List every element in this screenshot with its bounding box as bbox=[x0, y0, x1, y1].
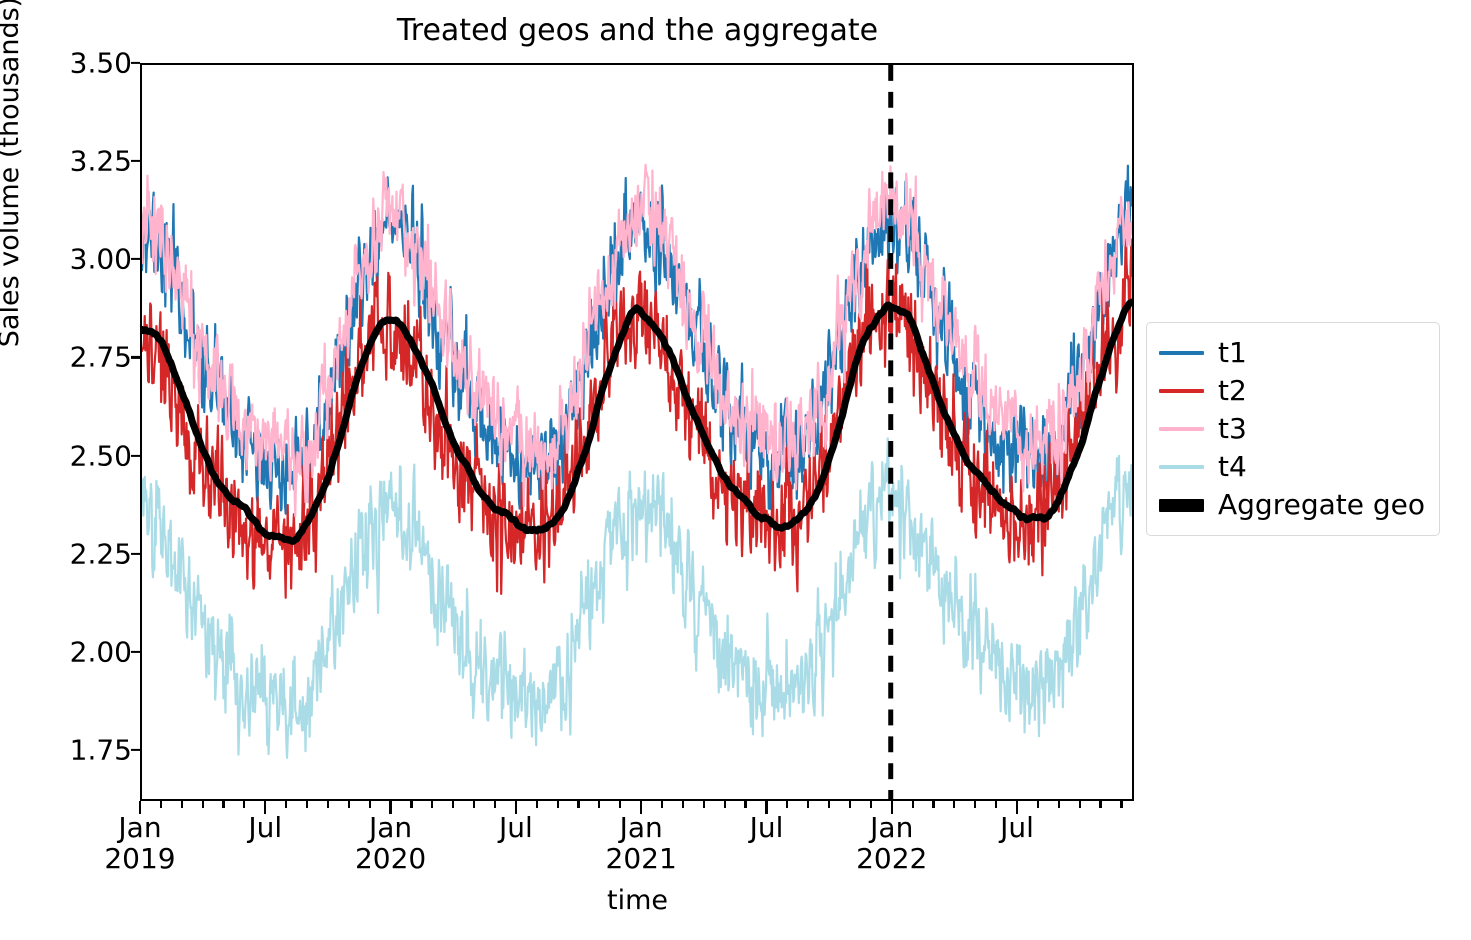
x-tick-month: Jul bbox=[499, 811, 533, 844]
plot-svg bbox=[142, 65, 1132, 799]
x-tick-year: 2020 bbox=[355, 843, 426, 874]
x-tick-label: Jul bbox=[248, 812, 282, 843]
x-tick-mark-minor bbox=[870, 801, 872, 808]
x-tick-mark-minor bbox=[222, 801, 224, 808]
figure: Treated geos and the aggregate Sales vol… bbox=[0, 0, 1471, 940]
legend-item-label: t3 bbox=[1218, 415, 1247, 443]
x-tick-mark-minor bbox=[598, 801, 600, 808]
y-tick-mark bbox=[131, 749, 140, 751]
x-tick-month: Jan bbox=[620, 811, 663, 844]
x-tick-mark-minor bbox=[536, 801, 538, 808]
x-tick-mark-minor bbox=[786, 801, 788, 808]
x-tick-mark-minor bbox=[995, 801, 997, 808]
x-tick-mark-minor bbox=[1037, 801, 1039, 808]
x-tick-mark-minor bbox=[431, 801, 433, 808]
x-tick-mark-minor bbox=[682, 801, 684, 808]
y-tick-mark bbox=[131, 651, 140, 653]
y-tick-label: 3.25 bbox=[70, 145, 132, 178]
x-tick-mark-minor bbox=[577, 801, 579, 808]
x-tick-label: Jan2019 bbox=[104, 812, 175, 875]
legend-color-swatch bbox=[1159, 499, 1204, 512]
legend: t1t2t3t4Aggregate geo bbox=[1146, 322, 1440, 536]
x-tick-mark-minor bbox=[181, 801, 183, 808]
x-tick-month: Jan bbox=[870, 811, 913, 844]
x-tick-mark-minor bbox=[285, 801, 287, 808]
x-tick-mark-minor bbox=[202, 801, 204, 808]
x-tick-label: Jan2021 bbox=[606, 812, 677, 875]
x-tick-mark-minor bbox=[807, 801, 809, 808]
y-tick-label: 2.50 bbox=[70, 439, 132, 472]
x-tick-mark-minor bbox=[160, 801, 162, 808]
x-tick-mark-minor bbox=[243, 801, 245, 808]
y-tick-mark bbox=[131, 160, 140, 162]
x-tick-mark-minor bbox=[1058, 801, 1060, 808]
legend-item-t2[interactable]: t2 bbox=[1159, 372, 1425, 410]
legend-item-label: t1 bbox=[1218, 339, 1247, 367]
x-axis-label: time bbox=[140, 885, 1135, 916]
x-tick-mark-minor bbox=[348, 801, 350, 808]
x-tick-mark-minor bbox=[410, 801, 412, 808]
legend-item-t1[interactable]: t1 bbox=[1159, 334, 1425, 372]
x-tick-mark-minor bbox=[369, 801, 371, 808]
legend-color-swatch bbox=[1159, 389, 1204, 393]
y-tick-label: 2.00 bbox=[70, 635, 132, 668]
y-tick-label: 2.25 bbox=[70, 537, 132, 570]
x-tick-label: Jul bbox=[1000, 812, 1034, 843]
x-tick-year: 2021 bbox=[606, 843, 677, 874]
x-tick-month: Jan bbox=[118, 811, 161, 844]
x-tick-mark-minor bbox=[953, 801, 955, 808]
y-axis-label: Sales volume (thousands) bbox=[0, 0, 25, 432]
x-tick-year: 2022 bbox=[856, 843, 927, 874]
x-tick-mark-minor bbox=[974, 801, 976, 808]
legend-item-label: t4 bbox=[1218, 453, 1247, 481]
x-tick-mark-minor bbox=[932, 801, 934, 808]
x-tick-label: Jan2022 bbox=[856, 812, 927, 875]
plot-area bbox=[140, 63, 1134, 801]
x-tick-year: 2019 bbox=[104, 843, 175, 874]
x-tick-mark-minor bbox=[744, 801, 746, 808]
legend-item-t3[interactable]: t3 bbox=[1159, 410, 1425, 448]
x-tick-month: Jul bbox=[248, 811, 282, 844]
legend-color-swatch bbox=[1159, 427, 1204, 431]
x-tick-mark-minor bbox=[494, 801, 496, 808]
x-tick-mark-minor bbox=[327, 801, 329, 808]
x-tick-mark-minor bbox=[452, 801, 454, 808]
x-tick-mark-minor bbox=[849, 801, 851, 808]
y-tick-mark bbox=[131, 454, 140, 456]
y-tick-mark bbox=[131, 553, 140, 555]
x-tick-mark-minor bbox=[1079, 801, 1081, 808]
x-tick-label: Jul bbox=[499, 812, 533, 843]
legend-item-aggregate-geo[interactable]: Aggregate geo bbox=[1159, 486, 1425, 524]
y-tick-label: 3.00 bbox=[70, 243, 132, 276]
x-tick-mark-minor bbox=[1120, 801, 1122, 808]
legend-item-label: t2 bbox=[1218, 377, 1247, 405]
x-tick-mark-minor bbox=[703, 801, 705, 808]
y-tick-label: 2.75 bbox=[70, 341, 132, 374]
y-tick-label: 1.75 bbox=[70, 733, 132, 766]
legend-item-t4[interactable]: t4 bbox=[1159, 448, 1425, 486]
x-tick-mark-minor bbox=[661, 801, 663, 808]
y-tick-mark bbox=[131, 258, 140, 260]
legend-color-swatch bbox=[1159, 351, 1204, 355]
x-tick-month: Jan bbox=[369, 811, 412, 844]
x-tick-mark-minor bbox=[306, 801, 308, 808]
y-tick-mark bbox=[131, 356, 140, 358]
x-tick-label: Jul bbox=[750, 812, 784, 843]
x-tick-month: Jul bbox=[1000, 811, 1034, 844]
legend-color-swatch bbox=[1159, 465, 1204, 469]
x-tick-mark-minor bbox=[828, 801, 830, 808]
x-tick-mark-minor bbox=[557, 801, 559, 808]
x-tick-mark-minor bbox=[473, 801, 475, 808]
x-tick-mark-minor bbox=[1099, 801, 1101, 808]
x-tick-label: Jan2020 bbox=[355, 812, 426, 875]
y-tick-label: 3.50 bbox=[70, 47, 132, 80]
legend-item-label: Aggregate geo bbox=[1218, 491, 1425, 519]
y-tick-mark bbox=[131, 62, 140, 64]
page-title: Treated geos and the aggregate bbox=[140, 14, 1135, 47]
x-tick-mark-minor bbox=[619, 801, 621, 808]
x-tick-mark-minor bbox=[912, 801, 914, 808]
x-tick-month: Jul bbox=[750, 811, 784, 844]
x-tick-mark-minor bbox=[724, 801, 726, 808]
